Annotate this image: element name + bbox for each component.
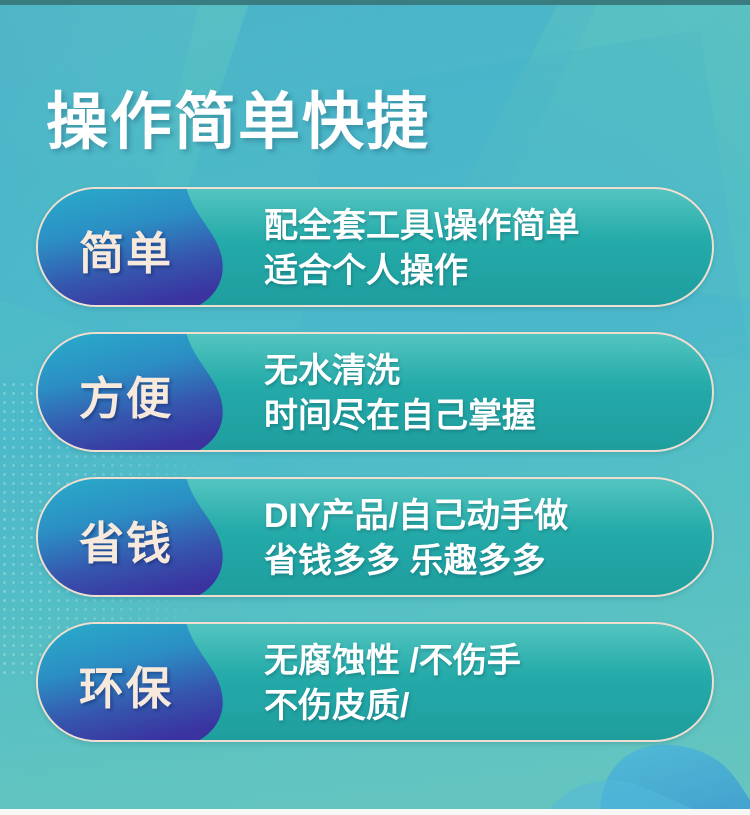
badge-label: 简单 <box>38 189 214 307</box>
card-text-block: DIY产品/自己动手做 省钱多多 乐趣多多 <box>264 479 568 597</box>
card-line-2: 时间尽在自己掌握 <box>264 394 536 439</box>
card-line-1: 配全套工具\操作简单 <box>264 204 579 249</box>
badge-label: 省钱 <box>38 479 214 597</box>
badge-label: 方便 <box>38 334 214 452</box>
bottom-edge-strip <box>0 809 750 815</box>
card-text-block: 无腐蚀性 /不伤手 不伤皮质/ <box>264 624 521 742</box>
promo-poster: 操作简单快捷 简单 <box>0 0 750 815</box>
feature-card[interactable]: 环保 无腐蚀性 /不伤手 不伤皮质/ <box>36 622 714 742</box>
card-line-1: 无水清洗 <box>264 349 536 394</box>
card-text-block: 配全套工具\操作简单 适合个人操作 <box>264 189 579 307</box>
page-title: 操作简单快捷 <box>46 90 430 155</box>
card-line-1: 无腐蚀性 /不伤手 <box>264 639 521 684</box>
top-edge-strip <box>0 0 750 5</box>
badge-label: 环保 <box>38 624 214 742</box>
feature-card[interactable]: 省钱 DIY产品/自己动手做 省钱多多 乐趣多多 <box>36 477 714 597</box>
card-line-2: 适合个人操作 <box>264 249 579 294</box>
card-line-1: DIY产品/自己动手做 <box>264 494 568 539</box>
card-text-block: 无水清洗 时间尽在自己掌握 <box>264 334 536 452</box>
card-line-2: 省钱多多 乐趣多多 <box>264 539 568 584</box>
feature-card[interactable]: 简单 配全套工具\操作简单 适合个人操作 <box>36 187 714 307</box>
feature-card[interactable]: 方便 无水清洗 时间尽在自己掌握 <box>36 332 714 452</box>
card-line-2: 不伤皮质/ <box>264 684 521 729</box>
